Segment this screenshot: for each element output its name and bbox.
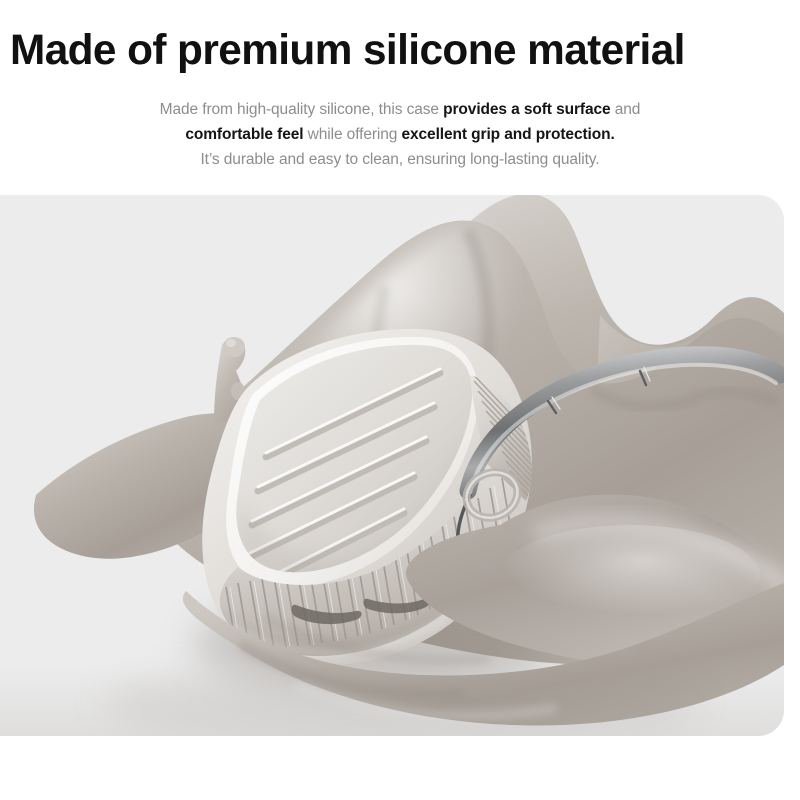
- feature-description: Made from high-quality silicone, this ca…: [0, 97, 800, 172]
- description-line-2: comfortable feel while offering excellen…: [0, 122, 800, 147]
- description-emphasis: provides a soft surface: [443, 101, 610, 118]
- description-text: Made from high-quality silicone, this ca…: [160, 101, 443, 118]
- description-text: while offering: [303, 126, 401, 143]
- product-illustration: [0, 195, 784, 736]
- product-image-panel: [0, 195, 784, 736]
- description-emphasis: comfortable feel: [185, 126, 303, 143]
- description-line-1: Made from high-quality silicone, this ca…: [0, 97, 800, 122]
- description-text: and: [611, 101, 641, 118]
- product-feature-slide: Made of premium silicone material Made f…: [0, 0, 800, 800]
- description-line-3: It’s durable and easy to clean, ensuring…: [0, 147, 800, 172]
- description-emphasis: excellent grip and protection.: [402, 126, 615, 143]
- page-title: Made of premium silicone material: [10, 28, 778, 73]
